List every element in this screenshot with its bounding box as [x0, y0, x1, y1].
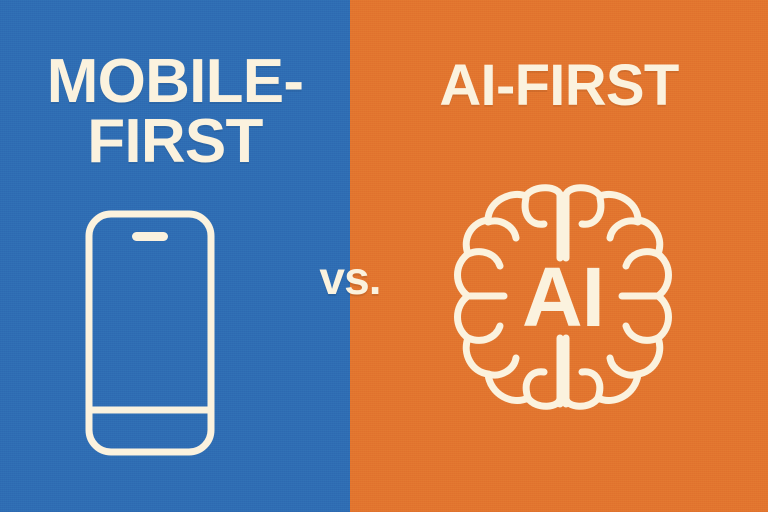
smartphone-icon-svg	[80, 205, 220, 461]
phone-speaker-slot	[132, 232, 168, 241]
brain-left-fold-3	[468, 252, 500, 266]
brain-left-fold-2	[488, 221, 516, 238]
brain-ai-label: AI	[522, 250, 604, 344]
left-panel-title: MOBILE- FIRST	[0, 52, 350, 171]
brain-left-fold-7	[526, 372, 544, 398]
brain-right-fold-1	[582, 198, 601, 224]
phone-body-outline	[89, 214, 211, 452]
brain-left-fold-5	[468, 326, 500, 340]
brain-right-fold-7	[582, 372, 600, 398]
versus-label: vs.	[319, 255, 380, 301]
smartphone-icon	[80, 205, 220, 461]
comparison-graphic: MOBILE- FIRST AI-FIRST	[0, 0, 768, 512]
brain-icon-svg: AI	[448, 182, 678, 414]
brain-right-fold-2	[610, 221, 638, 238]
brain-right-fold-6	[610, 358, 638, 375]
brain-left-fold-6	[488, 358, 516, 375]
brain-right-fold-5	[626, 326, 658, 340]
right-panel-title: AI-FIRST	[350, 58, 768, 114]
brain-right-fold-3	[626, 252, 658, 266]
brain-icon: AI	[448, 182, 678, 414]
brain-left-fold-1	[525, 198, 544, 224]
